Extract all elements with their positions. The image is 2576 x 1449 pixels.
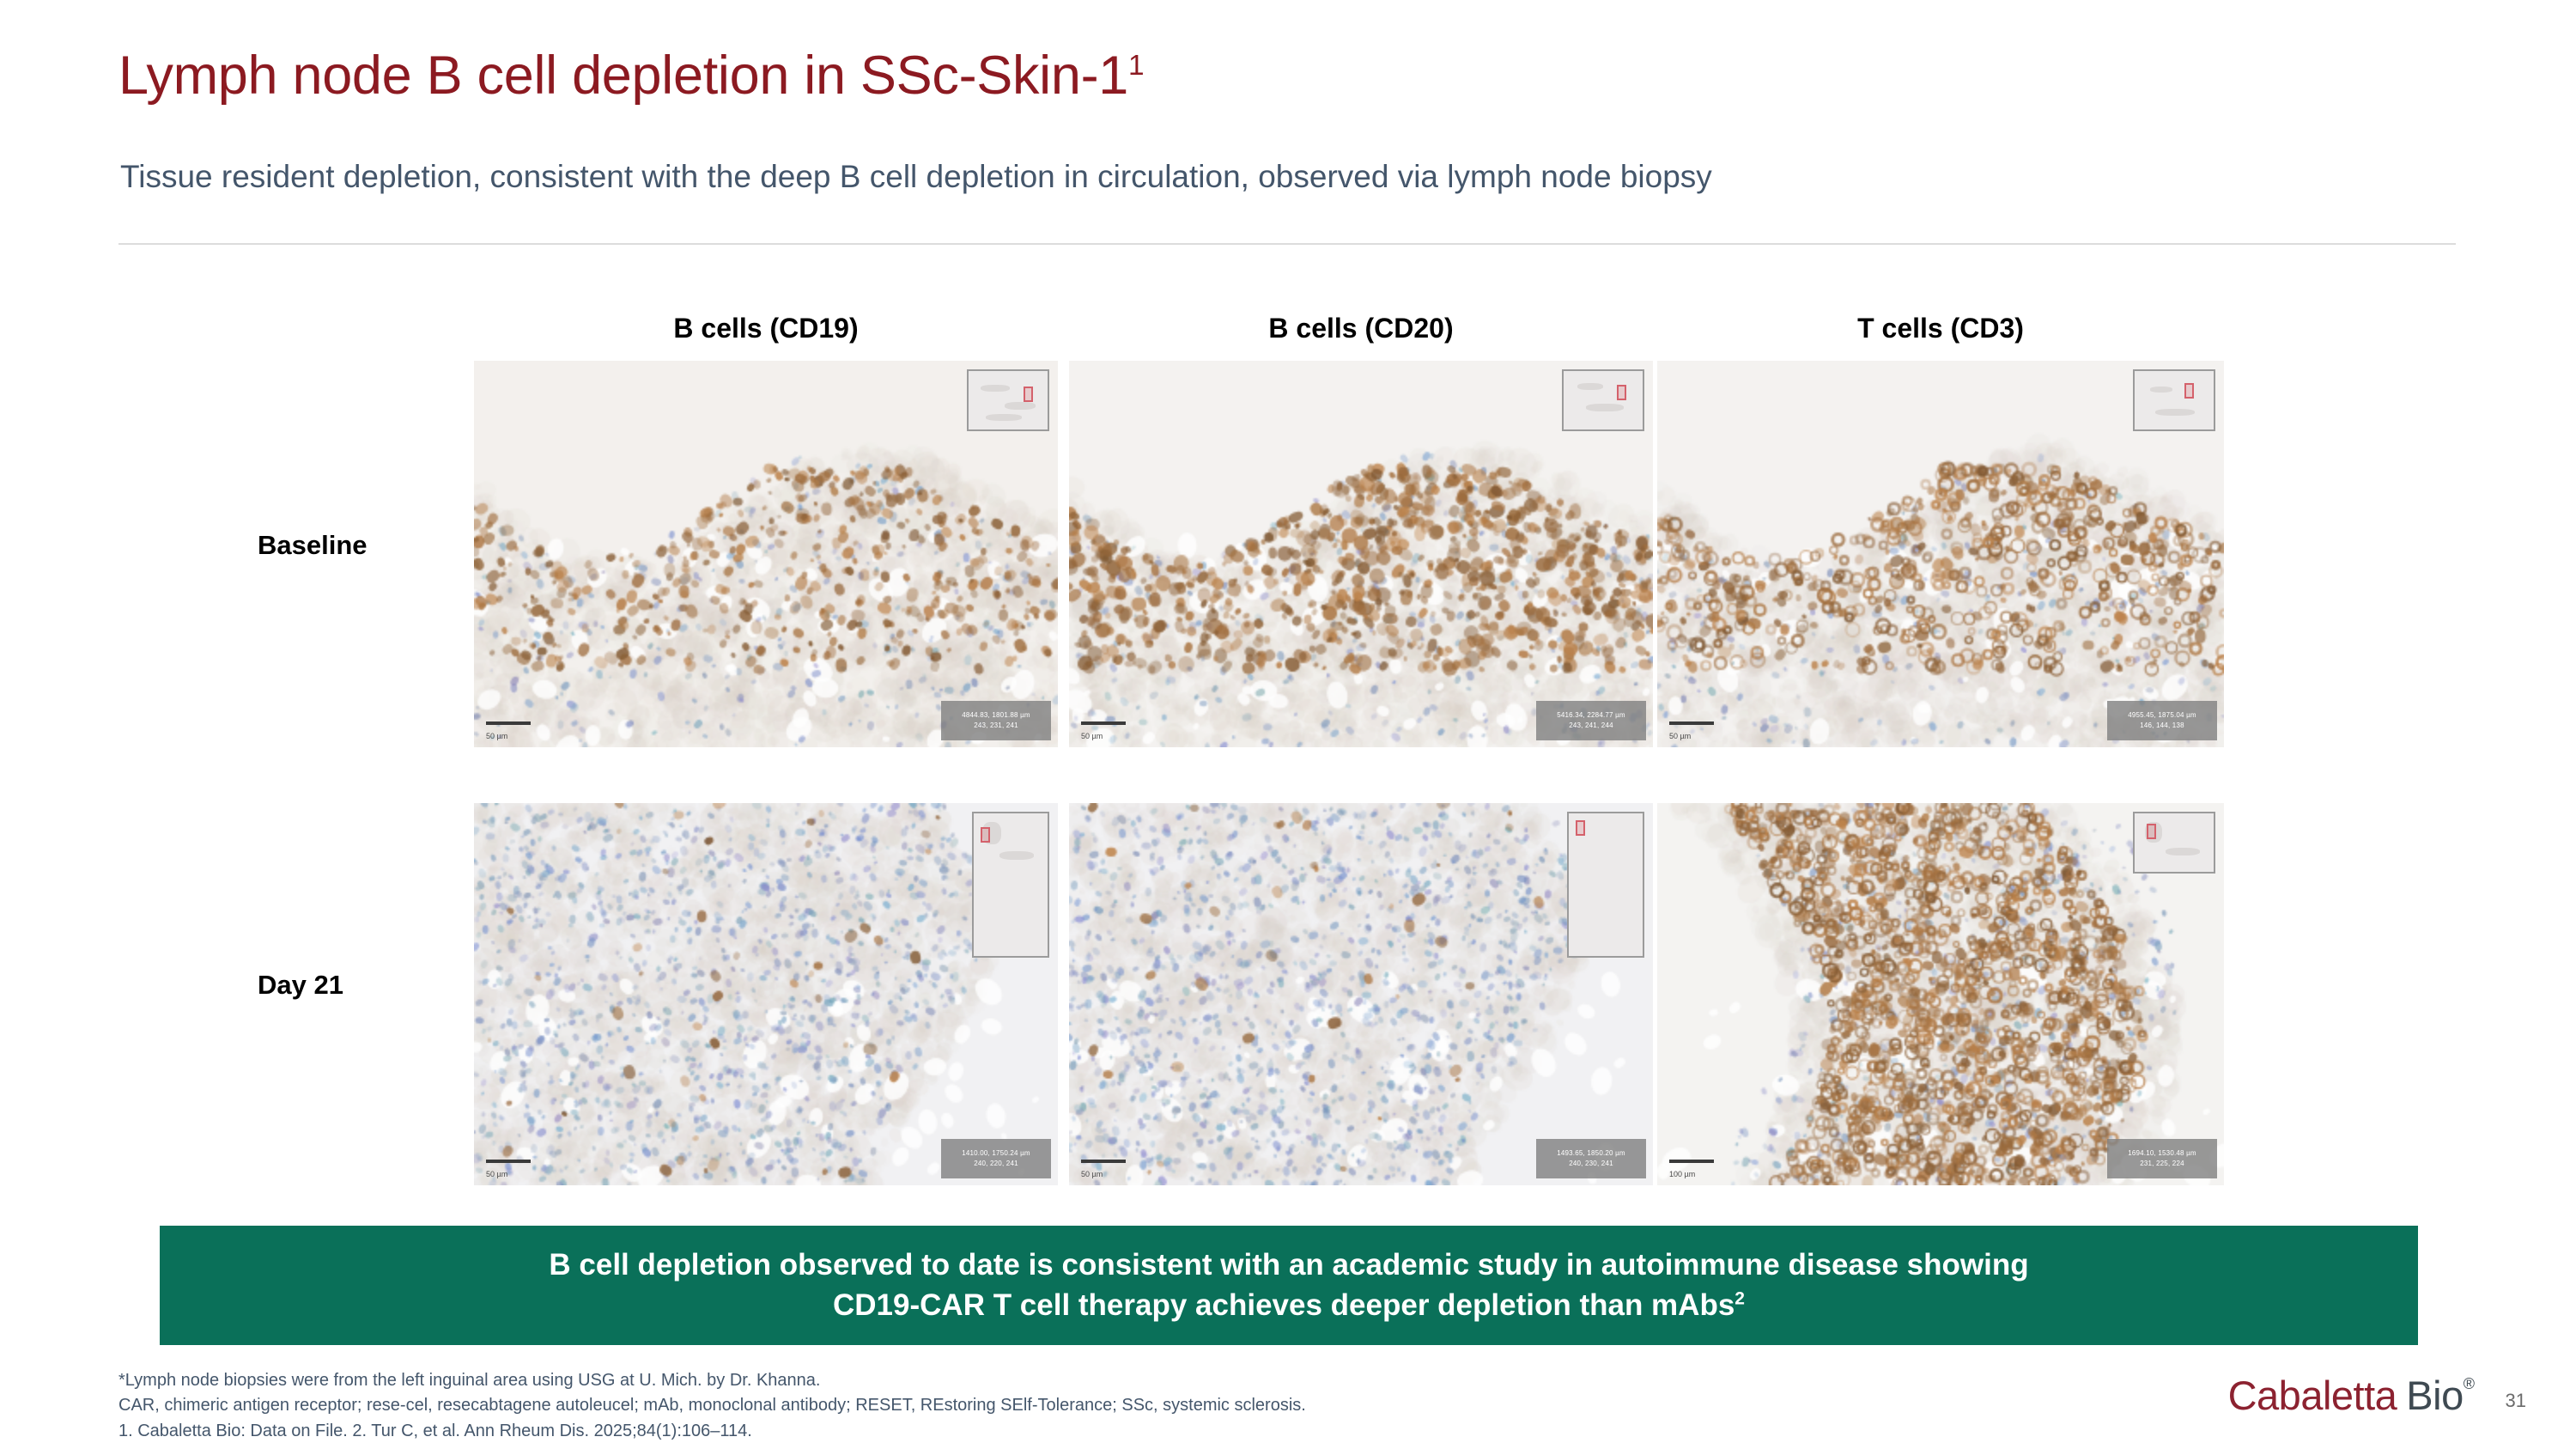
info-overlay-cd20-day21: 1493.65, 1850.20 µm 240, 230, 241 xyxy=(1536,1139,1646,1178)
overlay-coordinates: 1694.10, 1530.48 µm xyxy=(2107,1148,2217,1159)
roi-marker xyxy=(2184,383,2194,399)
scale-bar-cd20-baseline xyxy=(1081,721,1126,725)
scale-bar-label-cd3-baseline: 50 µm xyxy=(1669,732,1691,740)
micrograph-panel-cd3-day21[interactable]: 100 µm 1694.10, 1530.48 µm 231, 225, 224 xyxy=(1657,803,2224,1185)
overlay-coordinates: 1410.00, 1750.24 µm xyxy=(941,1148,1051,1159)
logo-word-bio: Bio xyxy=(2406,1372,2463,1419)
scale-bar-label-cd19-baseline: 50 µm xyxy=(486,732,507,740)
roi-marker xyxy=(1617,385,1626,400)
slide: Lymph node B cell depletion in SSc-Skin-… xyxy=(0,0,2576,1449)
company-logo: Cabaletta Bio ® xyxy=(2228,1372,2475,1419)
roi-marker xyxy=(981,827,990,843)
thumbnail-inset-cd3-baseline xyxy=(2133,369,2215,431)
footnote-methods: *Lymph node biopsies were from the left … xyxy=(118,1368,1306,1393)
overlay-coordinates: 1493.65, 1850.20 µm xyxy=(1536,1148,1646,1159)
registered-trademark-icon: ® xyxy=(2464,1375,2475,1393)
scale-bar-cd3-baseline xyxy=(1669,721,1714,725)
column-header-cd3: T cells (CD3) xyxy=(1657,313,2224,344)
micrograph-panel-cd20-baseline[interactable]: 50 µm 5416.34, 2284.77 µm 243, 241, 244 xyxy=(1069,361,1653,747)
overlay-coordinates: 4955.45, 1875.04 µm xyxy=(2107,710,2217,721)
scale-bar-cd19-day21 xyxy=(486,1160,531,1163)
banner-line-2-text: CD19-CAR T cell therapy achieves deeper … xyxy=(833,1288,1735,1322)
banner-line-1: B cell depletion observed to date is con… xyxy=(549,1245,2028,1285)
scale-bar-label-cd19-day21: 50 µm xyxy=(486,1170,507,1178)
micrograph-image-cd19-day21 xyxy=(474,803,1058,1185)
footnotes: *Lymph node biopsies were from the left … xyxy=(118,1368,1306,1444)
thumbnail-inset-cd19-day21 xyxy=(972,812,1049,958)
row-label-day21: Day 21 xyxy=(258,970,481,1001)
thumbnail-inset-cd20-baseline xyxy=(1562,369,1644,431)
column-header-cd19: B cells (CD19) xyxy=(474,313,1058,344)
micrograph-panel-cd20-day21[interactable]: 50 µm 1493.65, 1850.20 µm 240, 230, 241 xyxy=(1069,803,1653,1185)
micrograph-image-cd20-day21 xyxy=(1069,803,1653,1185)
scale-bar-label-cd20-baseline: 50 µm xyxy=(1081,732,1103,740)
micrograph-panel-cd19-day21[interactable]: 50 µm 1410.00, 1750.24 µm 240, 220, 241 xyxy=(474,803,1058,1185)
micrograph-panel-cd3-baseline[interactable]: 50 µm 4955.45, 1875.04 µm 146, 144, 138 xyxy=(1657,361,2224,747)
overlay-rgb: 240, 230, 241 xyxy=(1536,1159,1646,1169)
thumbnail-inset-cd19-baseline xyxy=(967,369,1049,431)
overlay-rgb: 243, 231, 241 xyxy=(941,721,1051,731)
banner-line-2-superscript: 2 xyxy=(1735,1288,1745,1308)
micrograph-panel-cd19-baseline[interactable]: 50 µm 4844.83, 1801.88 µm 243, 231, 241 xyxy=(474,361,1058,747)
scale-bar-cd3-day21 xyxy=(1669,1160,1714,1163)
scale-bar-cd19-baseline xyxy=(486,721,531,725)
overlay-rgb: 231, 225, 224 xyxy=(2107,1159,2217,1169)
info-overlay-cd19-baseline: 4844.83, 1801.88 µm 243, 231, 241 xyxy=(941,701,1051,740)
thumbnail-inset-cd3-day21 xyxy=(2133,812,2215,874)
logo-word-cabaletta: Cabaletta xyxy=(2228,1372,2397,1419)
row-label-baseline: Baseline xyxy=(258,530,481,561)
thumbnail-inset-cd20-day21 xyxy=(1567,812,1644,958)
info-overlay-cd3-day21: 1694.10, 1530.48 µm 231, 225, 224 xyxy=(2107,1139,2217,1178)
info-overlay-cd3-baseline: 4955.45, 1875.04 µm 146, 144, 138 xyxy=(2107,701,2217,740)
overlay-rgb: 240, 220, 241 xyxy=(941,1159,1051,1169)
footnote-abbreviations: CAR, chimeric antigen receptor; rese-cel… xyxy=(118,1393,1306,1418)
footnote-references: 1. Cabaletta Bio: Data on File. 2. Tur C… xyxy=(118,1419,1306,1444)
page-number: 31 xyxy=(2506,1390,2526,1412)
banner-line-2: CD19-CAR T cell therapy achieves deeper … xyxy=(833,1286,1745,1325)
overlay-rgb: 243, 241, 244 xyxy=(1536,721,1646,731)
overlay-coordinates: 4844.83, 1801.88 µm xyxy=(941,710,1051,721)
scale-bar-cd20-day21 xyxy=(1081,1160,1126,1163)
column-header-cd20: B cells (CD20) xyxy=(1069,313,1653,344)
roi-marker xyxy=(1576,820,1585,836)
overlay-rgb: 146, 144, 138 xyxy=(2107,721,2217,731)
info-overlay-cd19-day21: 1410.00, 1750.24 µm 240, 220, 241 xyxy=(941,1139,1051,1178)
scale-bar-label-cd20-day21: 50 µm xyxy=(1081,1170,1103,1178)
scale-bar-label-cd3-day21: 100 µm xyxy=(1669,1170,1695,1178)
overlay-coordinates: 5416.34, 2284.77 µm xyxy=(1536,710,1646,721)
info-overlay-cd20-baseline: 5416.34, 2284.77 µm 243, 241, 244 xyxy=(1536,701,1646,740)
roi-marker xyxy=(1024,387,1033,402)
roi-marker xyxy=(2147,824,2156,839)
conclusion-banner: B cell depletion observed to date is con… xyxy=(160,1226,2418,1345)
